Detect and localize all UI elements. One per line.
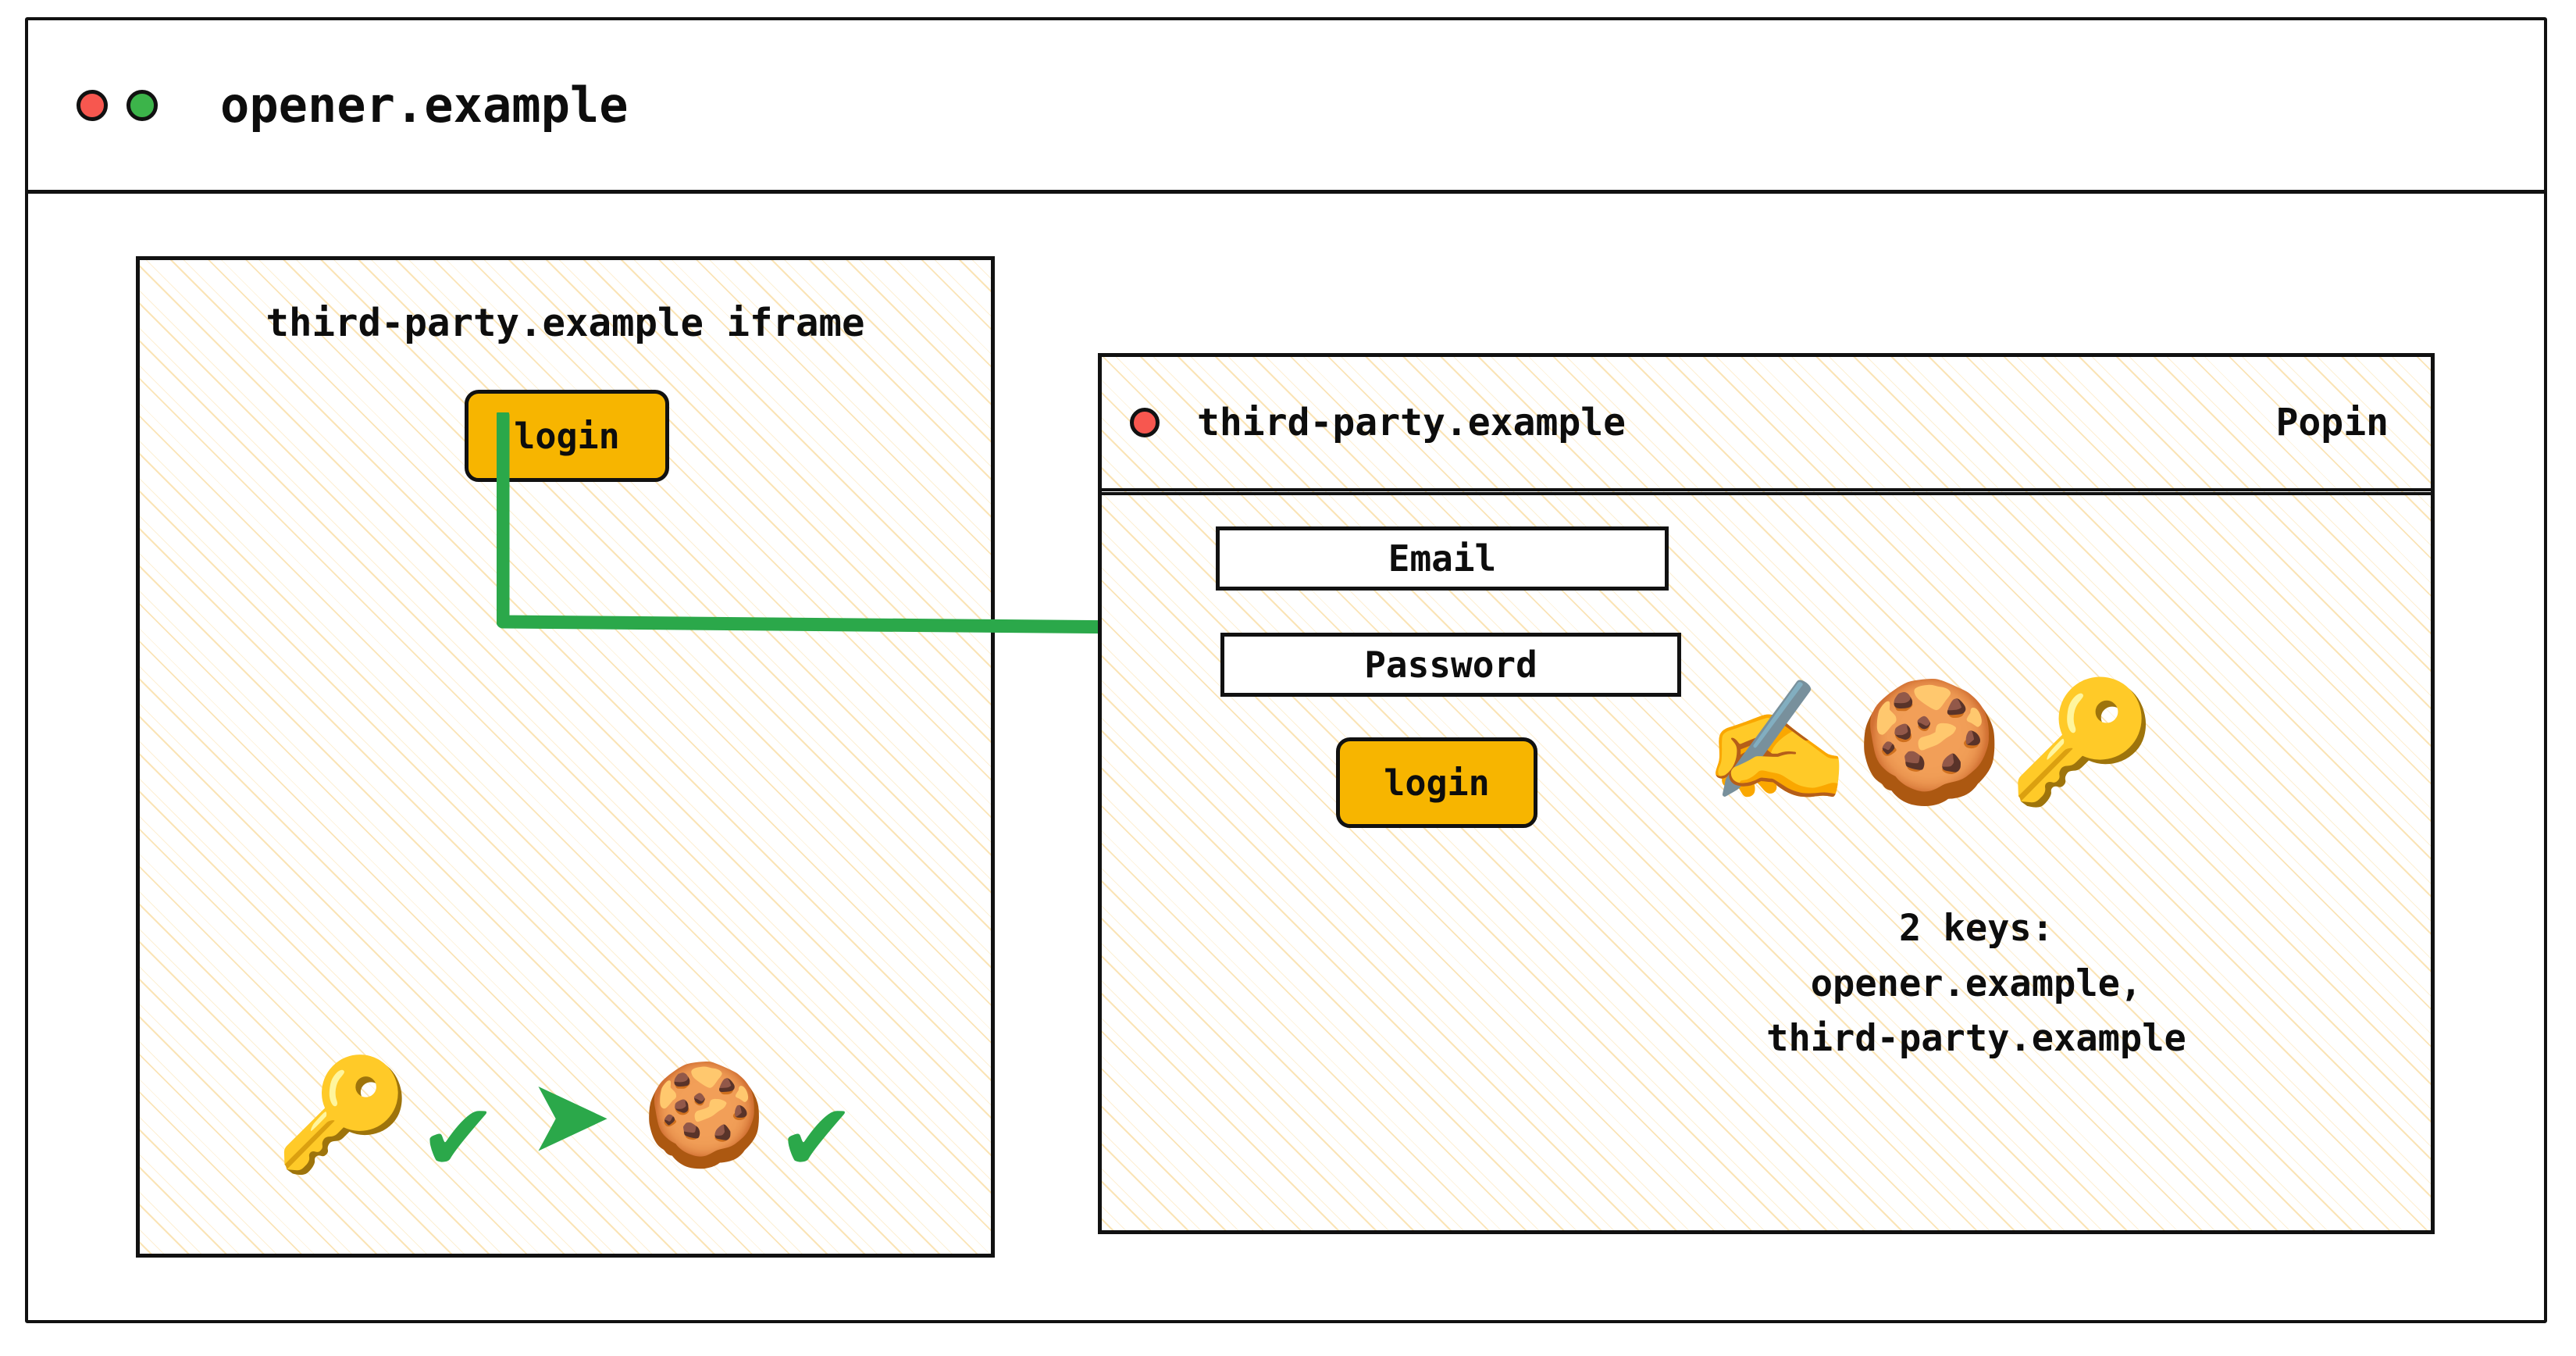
iframe-storage-row: 🔑 ✔ ➤ 🍪 ✔	[171, 1026, 960, 1205]
check-mark-icon: ✔	[419, 1092, 497, 1186]
keys-note-line-3: third-party.example	[1648, 1012, 2304, 1067]
cookie-icon: 🍪	[642, 1065, 766, 1165]
popup-body: Email Password login ✍️ 🍪 🔑 2 keys: open…	[1102, 495, 2431, 1230]
popup-header: third-party.example Popin	[1102, 357, 2431, 488]
right-arrow-icon: ➤	[527, 1065, 612, 1166]
keys-note-line-1: 2 keys:	[1648, 901, 2304, 957]
keys-note-line-2: opener.example,	[1648, 957, 2304, 1012]
writing-hand-icon: ✍️	[1703, 683, 1851, 801]
popup-header-divider	[1102, 488, 2431, 495]
close-window-dot[interactable]	[77, 90, 108, 121]
cookie-icon: 🍪	[1855, 683, 2003, 801]
iframe-panel-title: third-party.example iframe	[140, 301, 991, 345]
key-icon: 🔑	[275, 1061, 411, 1170]
keys-note: 2 keys: opener.example, third-party.exam…	[1648, 901, 2304, 1067]
password-field[interactable]: Password	[1220, 633, 1681, 697]
check-mark-icon: ✔	[777, 1092, 856, 1186]
browser-window: opener.example third-party.example ifram…	[25, 17, 2547, 1323]
browser-viewport: third-party.example iframe login 🔑 ✔ ➤ 🍪…	[28, 194, 2544, 1320]
popup-credentials-row: ✍️ 🍪 🔑	[1703, 683, 2156, 801]
popup-login-button[interactable]: login	[1336, 737, 1537, 828]
maximize-window-dot[interactable]	[126, 90, 158, 121]
popup-window-panel: third-party.example Popin Email Password…	[1098, 353, 2435, 1234]
popup-close-dot[interactable]	[1130, 408, 1160, 437]
iframe-login-button[interactable]: login	[465, 390, 669, 482]
browser-title-bar: opener.example	[28, 20, 2544, 194]
window-title: opener.example	[220, 77, 629, 134]
email-field[interactable]: Email	[1216, 526, 1669, 591]
third-party-iframe-panel: third-party.example iframe login 🔑 ✔ ➤ 🍪…	[136, 256, 995, 1258]
key-icon: 🔑	[2008, 683, 2156, 801]
popup-kind-label: Popin	[2276, 401, 2389, 444]
popup-title: third-party.example	[1197, 401, 1626, 444]
